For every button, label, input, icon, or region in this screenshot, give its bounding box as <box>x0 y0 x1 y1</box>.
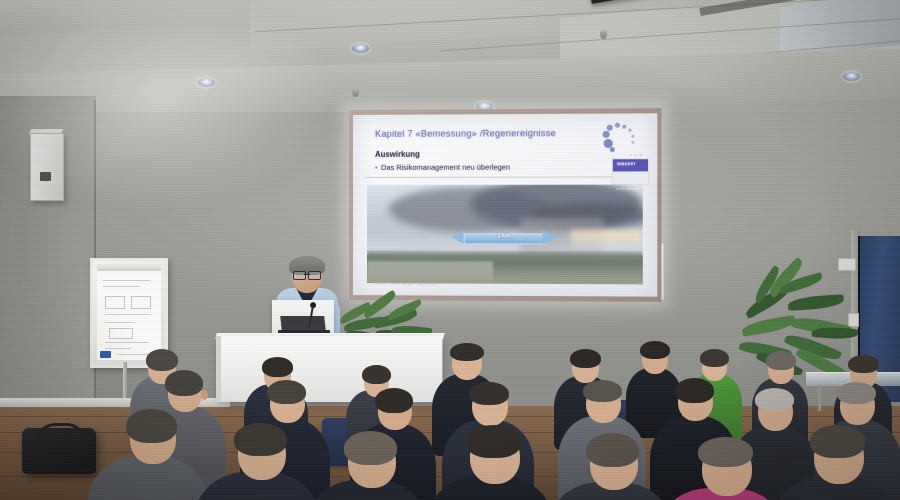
laptop-screen[interactable] <box>280 316 326 331</box>
logo-dot <box>631 141 634 144</box>
potted-plant-right <box>736 278 866 378</box>
side-table-leg <box>818 385 821 411</box>
logo-dot <box>622 125 626 129</box>
slide-page-number: 7 <box>639 282 641 286</box>
slide-divider <box>365 176 645 177</box>
flipchart-clamp <box>97 264 161 271</box>
projection-screen: Kapitel 7 «Bemessung» /Regenereignisse A… <box>349 108 661 302</box>
bullet-text: Das Risikomanagement neu überlegen <box>381 163 510 172</box>
circle-dots-logo: v s a <box>602 124 643 159</box>
logo-dot <box>631 135 634 138</box>
logo-letters: v s a <box>630 153 643 157</box>
ceiling-spotlight <box>843 72 860 81</box>
logo-dot <box>603 131 610 138</box>
slide-caption: Kapitel 7 Bemessung – Regen 2015 <box>375 281 436 285</box>
lectern-side-panel <box>216 336 221 402</box>
ceiling-spotlight <box>352 44 369 53</box>
slide-bullet-item: •Das Risikomanagement neu überlegen <box>375 163 510 172</box>
slide-photo: 1 km Quelle: Bildarchiv <box>367 185 643 285</box>
door-sign <box>838 258 856 271</box>
sprinkler-head <box>600 30 607 39</box>
flipchart <box>90 258 162 366</box>
slide-heading: Auswirkung <box>375 150 420 159</box>
partner-logo-text: wasser <box>617 161 636 167</box>
conference-room-screenshot: Kapitel 7 «Bemessung» /Regenereignisse A… <box>0 0 900 500</box>
logo-dot <box>615 123 620 128</box>
presenter-glasses <box>293 271 321 278</box>
presentation-slide: Kapitel 7 «Bemessung» /Regenereignisse A… <box>353 113 657 296</box>
ceiling-spotlight <box>198 78 215 87</box>
panel-control-knob[interactable] <box>40 172 51 181</box>
logo-dot <box>610 147 615 152</box>
wall-speaker-panel <box>30 133 64 201</box>
scale-arrow: 1 km <box>451 230 556 245</box>
flipchart-brand-tag <box>100 351 111 358</box>
flipchart-paper <box>97 270 161 360</box>
photo-sunlit-area <box>570 230 643 246</box>
slide-title: Kapitel 7 «Bemessung» /Regenereignisse <box>375 128 556 139</box>
sprinkler-head <box>352 88 359 97</box>
partner-logo-bar: wasser <box>613 159 648 171</box>
arrow-label: 1 km <box>451 233 556 239</box>
black-bag-on-floor <box>22 428 96 474</box>
logo-dot <box>607 125 613 131</box>
photo-source-note: Quelle: Bildarchiv <box>616 187 640 191</box>
ceiling <box>0 0 900 122</box>
partner-logo: wasser <box>612 158 649 185</box>
logo-dot <box>628 129 632 132</box>
